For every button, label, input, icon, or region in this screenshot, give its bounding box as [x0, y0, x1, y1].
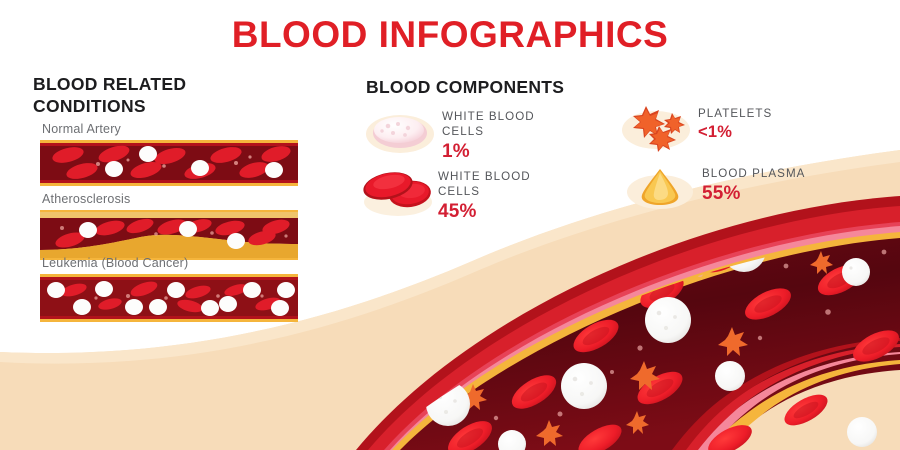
component-value: 55% — [702, 183, 805, 205]
white-blood-cell — [715, 361, 745, 391]
component-item-blood-plasma: BLOOD PLASMA 55% — [622, 161, 805, 215]
component-item-red-blood-cells: WHITE BLOOD CELLS 45% — [358, 164, 556, 223]
blood-vessel-normal-icon — [40, 140, 298, 186]
component-text-block: WHITE BLOOD CELLS 45% — [438, 164, 556, 223]
white-blood-cell — [842, 258, 870, 286]
component-item-white-blood-cells: WHITE BLOOD CELLS 1% — [362, 104, 560, 163]
page-title: BLOOD INFOGRAPHICS — [0, 14, 900, 56]
component-text-block: WHITE BLOOD CELLS 1% — [442, 104, 560, 163]
platelets-icon — [618, 101, 694, 155]
condition-item-normal-artery: Normal Artery — [40, 122, 298, 186]
white-blood-cell — [847, 417, 877, 447]
condition-label: Atherosclerosis — [42, 192, 298, 206]
component-text-block: PLATELETS <1% — [698, 101, 772, 142]
infographic-canvas: BLOOD INFOGRAPHICS BLOOD RELATED CONDITI… — [0, 0, 900, 450]
condition-label: Leukemia (Blood Cancer) — [42, 256, 298, 270]
red-blood-cell-icon — [358, 164, 434, 218]
condition-item-leukemia: Leukemia (Blood Cancer) — [40, 256, 298, 322]
condition-item-atherosclerosis: Atherosclerosis — [40, 192, 298, 260]
blood-vessel-plaque-icon — [40, 210, 298, 260]
component-item-platelets: PLATELETS <1% — [618, 101, 772, 155]
blood-plasma-drop-icon — [622, 161, 698, 215]
section-heading-conditions: BLOOD RELATED CONDITIONS — [33, 73, 283, 117]
white-blood-cell — [561, 363, 607, 409]
component-label: WHITE BLOOD CELLS — [442, 110, 560, 140]
component-value: 45% — [438, 201, 556, 223]
component-label: BLOOD PLASMA — [702, 167, 805, 182]
white-blood-cell-icon — [362, 104, 438, 158]
blood-vessel-leukemia-icon — [40, 274, 298, 322]
section-heading-components: BLOOD COMPONENTS — [366, 76, 696, 98]
component-value: <1% — [698, 123, 772, 142]
condition-label: Normal Artery — [42, 122, 298, 136]
component-text-block: BLOOD PLASMA 55% — [702, 161, 805, 205]
component-label: WHITE BLOOD CELLS — [438, 170, 556, 200]
component-value: 1% — [442, 141, 560, 163]
component-label: PLATELETS — [698, 107, 772, 122]
white-blood-cell — [645, 297, 691, 343]
